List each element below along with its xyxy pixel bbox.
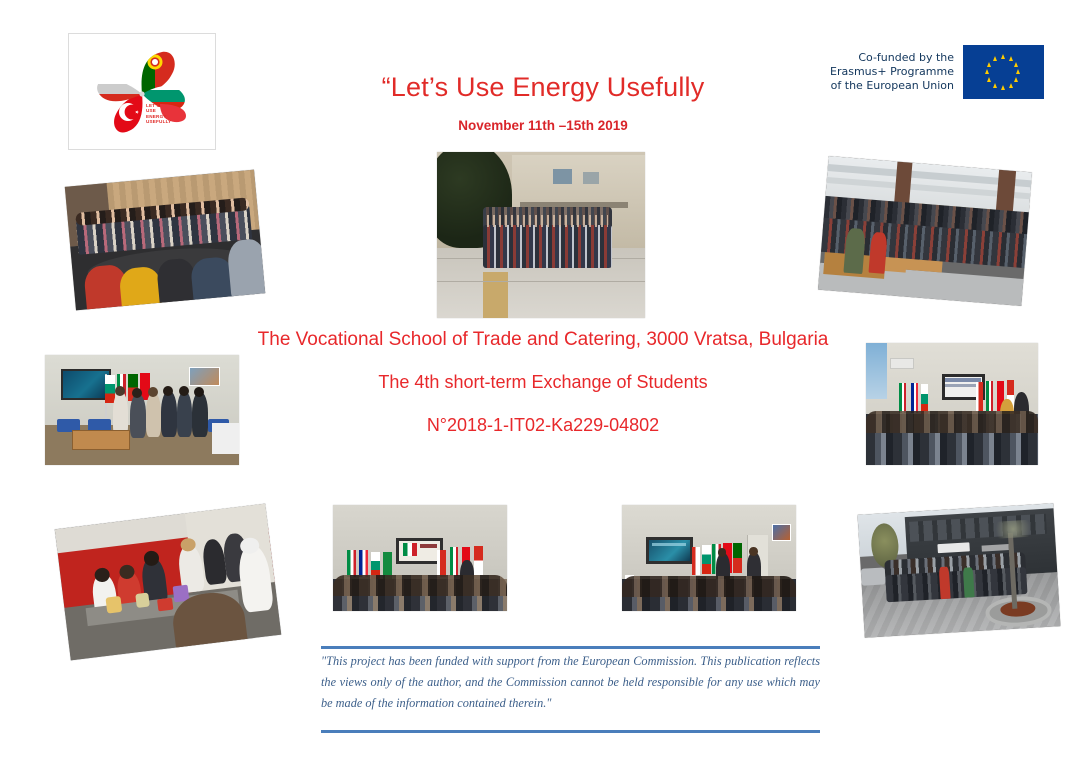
photo-scene bbox=[65, 170, 265, 311]
eu-star-icon bbox=[987, 77, 991, 82]
erasmus-cofunding-block: Co-funded by the Erasmus+ Programme of t… bbox=[826, 44, 1044, 100]
main-line-exchange: The 4th short-term Exchange of Students bbox=[0, 372, 1086, 393]
photo-scene bbox=[55, 504, 282, 661]
photo-scene bbox=[818, 156, 1032, 306]
photo-presentation-screen-flags-2 bbox=[622, 505, 796, 611]
eu-star-icon bbox=[987, 62, 991, 67]
eu-star-icon bbox=[985, 69, 989, 74]
footer-disclaimer: "This project has been funded with suppo… bbox=[321, 651, 820, 714]
main-line-school: The Vocational School of Trade and Cater… bbox=[0, 329, 1086, 351]
photo-workshop-circle-discussion bbox=[65, 170, 265, 311]
photo-scene bbox=[622, 505, 796, 611]
eu-star-icon bbox=[1009, 56, 1013, 61]
poster-page: LET'S USE ENERGY USEFULLY “Let’s Use Ene… bbox=[0, 0, 1086, 768]
eu-star-icon bbox=[1009, 83, 1013, 88]
photo-audience-amphitheatre-steps bbox=[818, 156, 1032, 306]
eu-star-icon bbox=[1014, 77, 1018, 82]
eu-star-icon bbox=[1016, 69, 1020, 74]
photo-scene bbox=[858, 503, 1061, 637]
main-line-project-number: N°2018-1-IT02-Ka229-04802 bbox=[0, 415, 1086, 436]
eu-star-icon bbox=[1014, 62, 1018, 67]
footer-rule-bottom bbox=[321, 730, 820, 733]
poster-dates: November 11th –15th 2019 bbox=[0, 118, 1086, 133]
eu-star-icon bbox=[1001, 54, 1005, 59]
eu-star-icon bbox=[993, 56, 997, 61]
erasmus-line-1: Co-funded by the bbox=[830, 51, 954, 65]
photo-group-falcon-building bbox=[858, 503, 1061, 637]
photo-scene bbox=[866, 343, 1038, 465]
photo-conference-room-projection bbox=[866, 343, 1038, 465]
eu-star-icon bbox=[993, 83, 997, 88]
photo-group-school-courtyard bbox=[437, 152, 645, 318]
photo-catering-cooking-workshop bbox=[55, 504, 282, 661]
eu-star-icon bbox=[1001, 85, 1005, 90]
photo-scene bbox=[437, 152, 645, 318]
photo-scene bbox=[333, 505, 507, 611]
erasmus-line-3: of the European Union bbox=[830, 79, 954, 93]
erasmus-line-2: Erasmus+ Programme bbox=[830, 65, 954, 79]
footer-rule-top bbox=[321, 646, 820, 649]
eu-flag-icon bbox=[963, 45, 1044, 99]
erasmus-text: Co-funded by the Erasmus+ Programme of t… bbox=[830, 51, 954, 93]
photo-presentation-screen-flags-1 bbox=[333, 505, 507, 611]
